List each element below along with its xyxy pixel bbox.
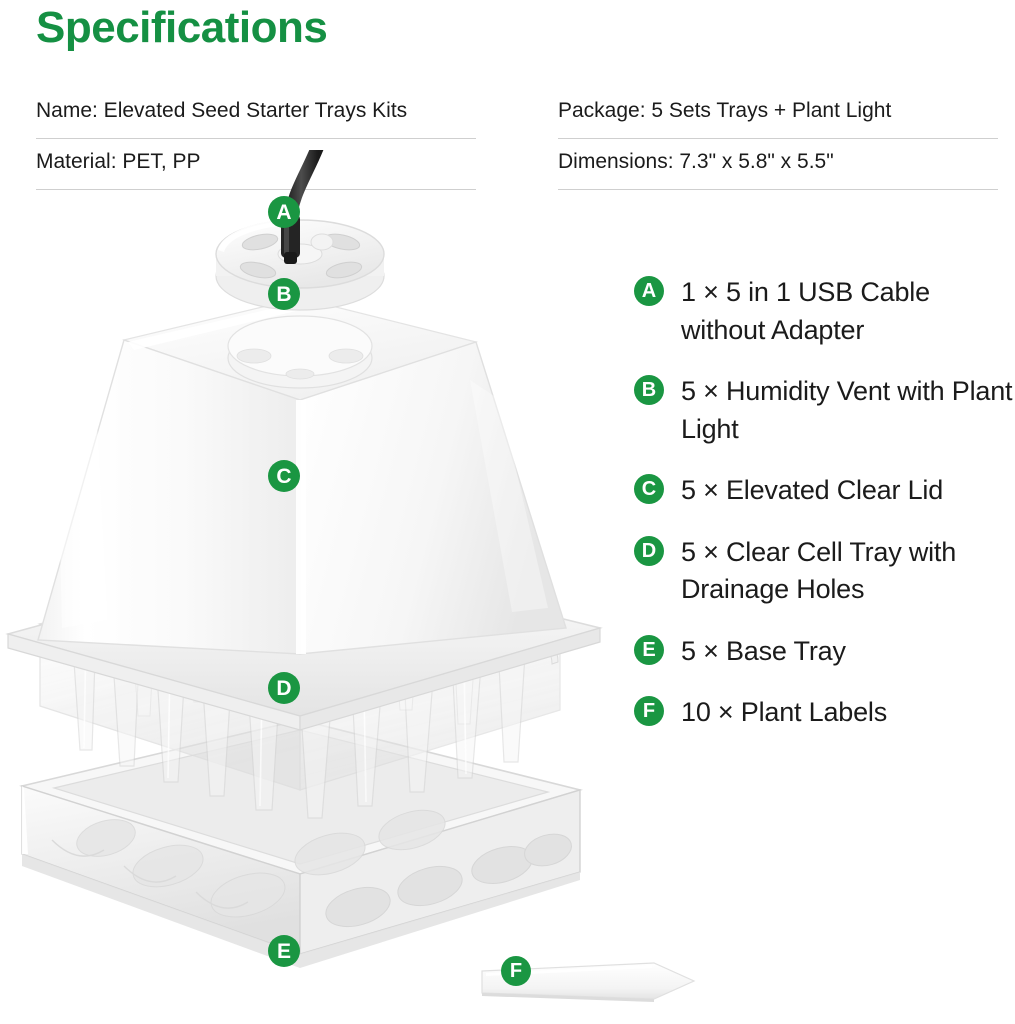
- callout-badge-f: F: [501, 956, 531, 986]
- callout-badge-b: B: [268, 278, 300, 310]
- legend-item-d: D 5 × Clear Cell Tray with Drainage Hole…: [634, 534, 1015, 609]
- callout-badge-d: D: [268, 672, 300, 704]
- legend-badge-f: F: [634, 696, 664, 726]
- spec-row-name: Name: Elevated Seed Starter Trays Kits: [36, 88, 476, 139]
- legend-badge-c: C: [634, 474, 664, 504]
- elevated-clear-lid-part: [8, 298, 600, 730]
- legend-label-d: 5 × Clear Cell Tray with Drainage Holes: [681, 534, 1015, 609]
- spec-row-package: Package: 5 Sets Trays + Plant Light: [558, 88, 998, 139]
- page-title: Specifications: [36, 2, 327, 55]
- legend-label-e: 5 × Base Tray: [681, 633, 846, 671]
- legend-badge-a: A: [634, 276, 664, 306]
- legend-badge-b: B: [634, 375, 664, 405]
- legend-badge-e: E: [634, 635, 664, 665]
- spec-package-text: Package: 5 Sets Trays + Plant Light: [558, 99, 891, 127]
- product-exploded-illustration: A B C D E: [0, 150, 630, 1024]
- callout-badge-e: E: [268, 935, 300, 967]
- callout-badge-a: A: [268, 196, 300, 228]
- legend-item-e: E 5 × Base Tray: [634, 633, 1015, 671]
- legend-item-c: C 5 × Elevated Clear Lid: [634, 472, 1015, 510]
- callout-badge-c: C: [268, 460, 300, 492]
- legend-item-f: F 10 × Plant Labels: [634, 694, 1015, 732]
- legend-item-b: B 5 × Humidity Vent with Plant Light: [634, 373, 1015, 448]
- legend-item-a: A 1 × 5 in 1 USB Cable without Adapter: [634, 274, 1015, 349]
- legend-label-f: 10 × Plant Labels: [681, 694, 887, 732]
- parts-legend-list: A 1 × 5 in 1 USB Cable without Adapter B…: [634, 274, 1015, 756]
- spec-name-text: Name: Elevated Seed Starter Trays Kits: [36, 99, 407, 127]
- legend-badge-d: D: [634, 536, 664, 566]
- legend-label-b: 5 × Humidity Vent with Plant Light: [681, 373, 1015, 448]
- legend-label-c: 5 × Elevated Clear Lid: [681, 472, 943, 510]
- legend-label-a: 1 × 5 in 1 USB Cable without Adapter: [681, 274, 1015, 349]
